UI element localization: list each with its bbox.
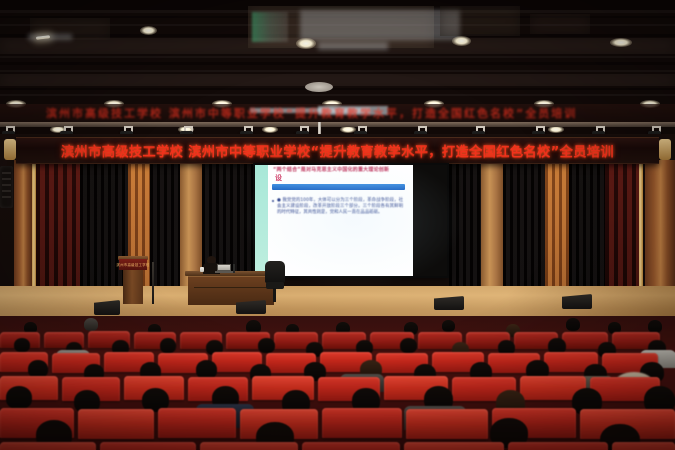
- auditorium-seat: [404, 442, 504, 450]
- presentation-slide: “两个结合”是对马克思主义中国化的重大理论创新 设 ● 我党党的100年，大体可…: [255, 165, 413, 276]
- curtain-red-right: [605, 164, 639, 306]
- audience-head: [258, 338, 275, 353]
- chair-base: [273, 288, 276, 302]
- curtain-red-left: [36, 164, 80, 306]
- auditorium-seat: [508, 442, 608, 450]
- laptop: [217, 264, 231, 273]
- curtain-dark-right: [503, 164, 545, 306]
- screen-unlit-area: [413, 165, 447, 276]
- audience-head: [160, 338, 176, 353]
- slide-accent-bar: [272, 184, 405, 190]
- podium-nameplate-text: 滨州市高级技工学校: [116, 262, 149, 267]
- podium-nameplate: 滨州市高级技工学校: [119, 259, 147, 270]
- ceiling-lamp: [610, 38, 632, 47]
- audience-head: [566, 318, 580, 331]
- water-cup: [200, 267, 204, 272]
- stage-back-wall-right: [481, 164, 503, 290]
- desk-microphone: [233, 264, 235, 273]
- auditorium-seat: [302, 442, 400, 450]
- office-chair: [265, 261, 285, 303]
- ceiling-lamp: [262, 126, 278, 133]
- auditorium-photo: 滨州市高级技工学校 滨州市中等职业学校“提升教育教学水平，打造全国红色名校”全员…: [0, 0, 675, 450]
- auditorium-seat: [406, 409, 488, 439]
- ceiling-projector-mount: [305, 82, 333, 92]
- slide-bullet-text: ● 我党党的100年，大体可以分为三个阶段，革命战争阶段，社会主义建设阶段，改革…: [277, 198, 403, 216]
- banner-text: 滨州市高级技工学校 滨州市中等职业学校“提升教育教学水平，打造全国红色名校”全员…: [61, 141, 614, 160]
- ceiling-lamp: [452, 36, 471, 46]
- curtain-tan-right: [545, 164, 569, 306]
- chair-backrest: [265, 261, 285, 283]
- slide-bullet-label: ● 我党党的100年，大体可以分为三个阶段，革命战争阶段，社会主义建设阶段，改革…: [277, 198, 403, 215]
- banner-end-right: [659, 139, 671, 160]
- curtain-dark-right2: [569, 164, 605, 306]
- auditorium-seat: [0, 442, 96, 450]
- auditorium-seat: [158, 408, 236, 438]
- podium: 滨州市高级技工学校: [118, 256, 148, 304]
- ceiling-reflection-text: 滨州市高级技工学校 滨州市中等职业学校“提升教育教学水平，打造全国红色名校”全员…: [46, 105, 646, 121]
- speaker-desk: [185, 271, 277, 304]
- banner-end-left: [4, 139, 16, 160]
- auditorium-seat: [100, 442, 196, 450]
- laptop-screen: [217, 264, 231, 271]
- audience-head: [442, 320, 455, 332]
- auditorium-seat: [612, 442, 675, 450]
- laptop-base: [215, 271, 233, 273]
- audience-head: [84, 318, 98, 331]
- audience-head: [14, 338, 30, 352]
- bullet-dot: [272, 200, 274, 202]
- auditorium-seat: [322, 408, 402, 438]
- lighting-truss: [0, 122, 675, 127]
- event-banner: 滨州市高级技工学校 滨州市中等职业学校“提升教育教学水平，打造全国红色名校”全员…: [16, 137, 659, 164]
- curtain-dark-center-right: [449, 164, 481, 290]
- curtain-dark-center-left: [150, 164, 180, 306]
- ceiling-lamp: [296, 38, 316, 49]
- auditorium-seat: [200, 442, 298, 450]
- slide-title-second: 设: [275, 173, 282, 183]
- audience-area: [0, 316, 675, 450]
- audience-head: [400, 338, 417, 353]
- auditorium-seat: [78, 409, 154, 439]
- microphone-stand: [152, 262, 154, 304]
- podium-body: [123, 270, 143, 304]
- ceiling-lamp: [140, 26, 157, 35]
- ceiling-green-reflection: [252, 12, 288, 42]
- slide-sidebar: [255, 165, 268, 276]
- slide-title: “两个结合”是对马克思主义中国化的重大理论创新: [273, 166, 409, 175]
- ceiling-lamp: [548, 126, 564, 133]
- wall-speaker: [0, 166, 13, 208]
- audience-head: [6, 386, 32, 409]
